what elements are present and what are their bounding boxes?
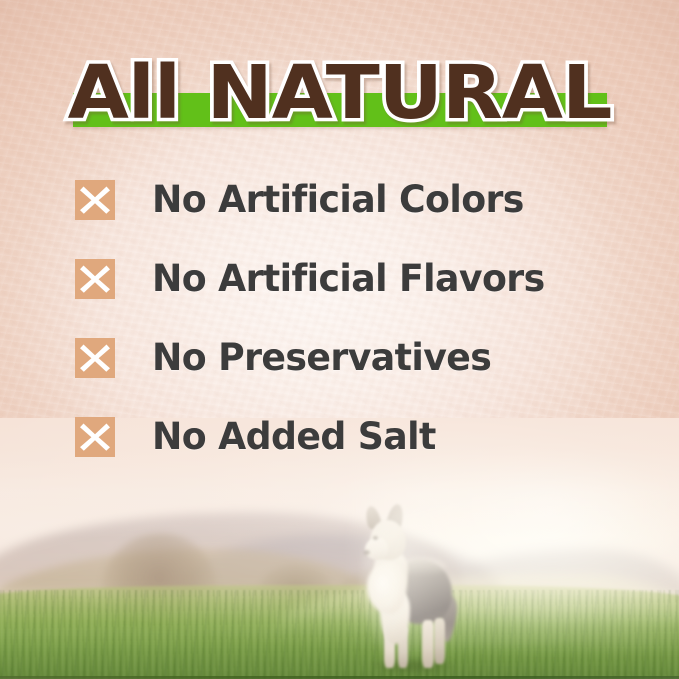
list-item-label: No Artificial Flavors bbox=[152, 251, 545, 307]
x-mark-icon bbox=[75, 259, 115, 299]
list-item-label: No Added Salt bbox=[152, 409, 436, 465]
list-item: No Preservatives bbox=[0, 330, 679, 409]
product-feature-poster: All NATURAL No Artificial Colors No Arti… bbox=[0, 0, 679, 679]
x-mark-icon bbox=[75, 180, 115, 220]
claims-list: No Artificial Colors No Artificial Flavo… bbox=[0, 172, 679, 488]
list-item-label: No Artificial Colors bbox=[152, 172, 524, 228]
title-block: All NATURAL bbox=[0, 52, 679, 134]
list-item: No Artificial Flavors bbox=[0, 251, 679, 330]
x-mark-icon bbox=[75, 417, 115, 457]
page-title: All NATURAL bbox=[0, 52, 679, 134]
list-item: No Added Salt bbox=[0, 409, 679, 488]
list-item-label: No Preservatives bbox=[152, 330, 491, 386]
list-item: No Artificial Colors bbox=[0, 172, 679, 251]
x-mark-icon bbox=[75, 338, 115, 378]
